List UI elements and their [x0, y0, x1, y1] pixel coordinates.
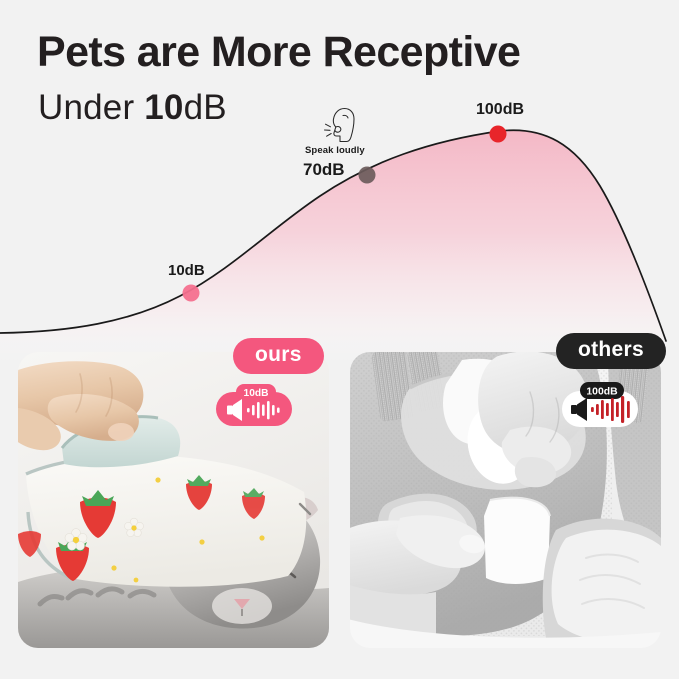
- label-100db: 100dB: [476, 101, 524, 119]
- db-badge-ours: 10dB: [214, 384, 294, 428]
- speak-loudly-caption: Speak loudly: [305, 145, 365, 156]
- data-point-100db: [490, 126, 507, 143]
- db-badge-others-label: 100dB: [586, 387, 618, 398]
- badge-ours: ours: [233, 338, 324, 374]
- label-10db: 10dB: [168, 262, 205, 279]
- db-badge-others: 100dB: [560, 382, 640, 428]
- data-point-10db: [183, 285, 200, 302]
- label-70db: 70dB: [303, 160, 345, 180]
- speaking-head-icon: [319, 106, 361, 146]
- badge-others: others: [556, 333, 666, 369]
- db-badge-ours-label: 10dB: [244, 388, 269, 399]
- data-point-70db: [359, 167, 376, 184]
- decibel-curve-chart: [0, 0, 679, 360]
- infographic-canvas: Pets are More Receptive Under 10dB 10dB …: [0, 0, 679, 679]
